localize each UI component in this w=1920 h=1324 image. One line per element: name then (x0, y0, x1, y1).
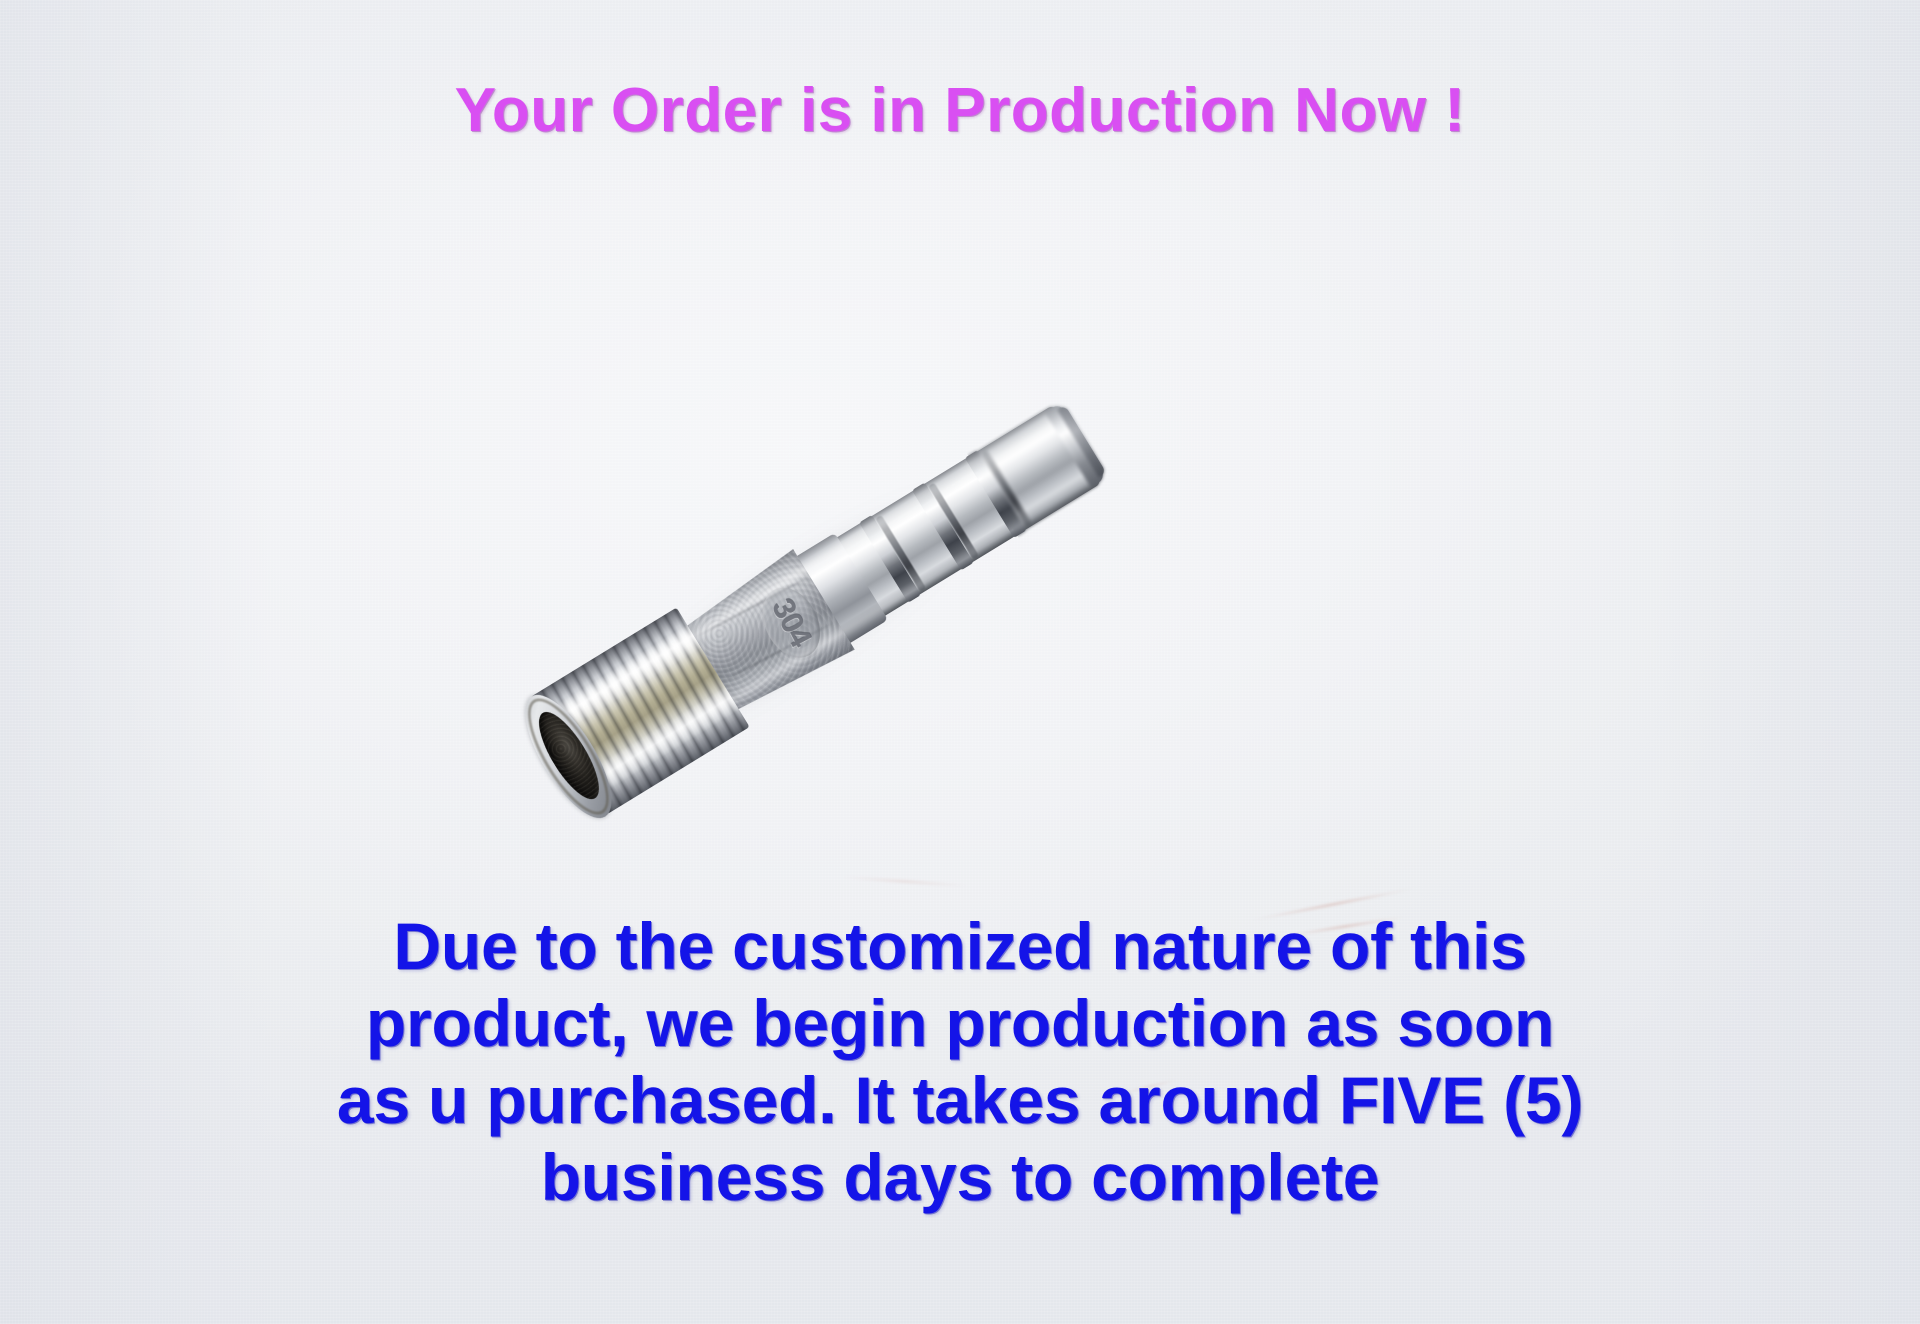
notice-line: Due to the customized nature of this (110, 908, 1810, 985)
promo-image-canvas: 304 Your Order is in Production Now ! Du… (0, 0, 1920, 1324)
headline-text: Your Order is in Production Now ! (0, 78, 1920, 144)
notice-line: product, we begin production as soon (110, 985, 1810, 1062)
notice-line: business days to complete (110, 1139, 1810, 1216)
product-photo-hose-barb-fitting: 304 (470, 300, 1160, 730)
production-notice-text: Due to the customized nature of this pro… (110, 908, 1810, 1216)
notice-line: as u purchased. It takes around FIVE (5) (110, 1062, 1810, 1139)
